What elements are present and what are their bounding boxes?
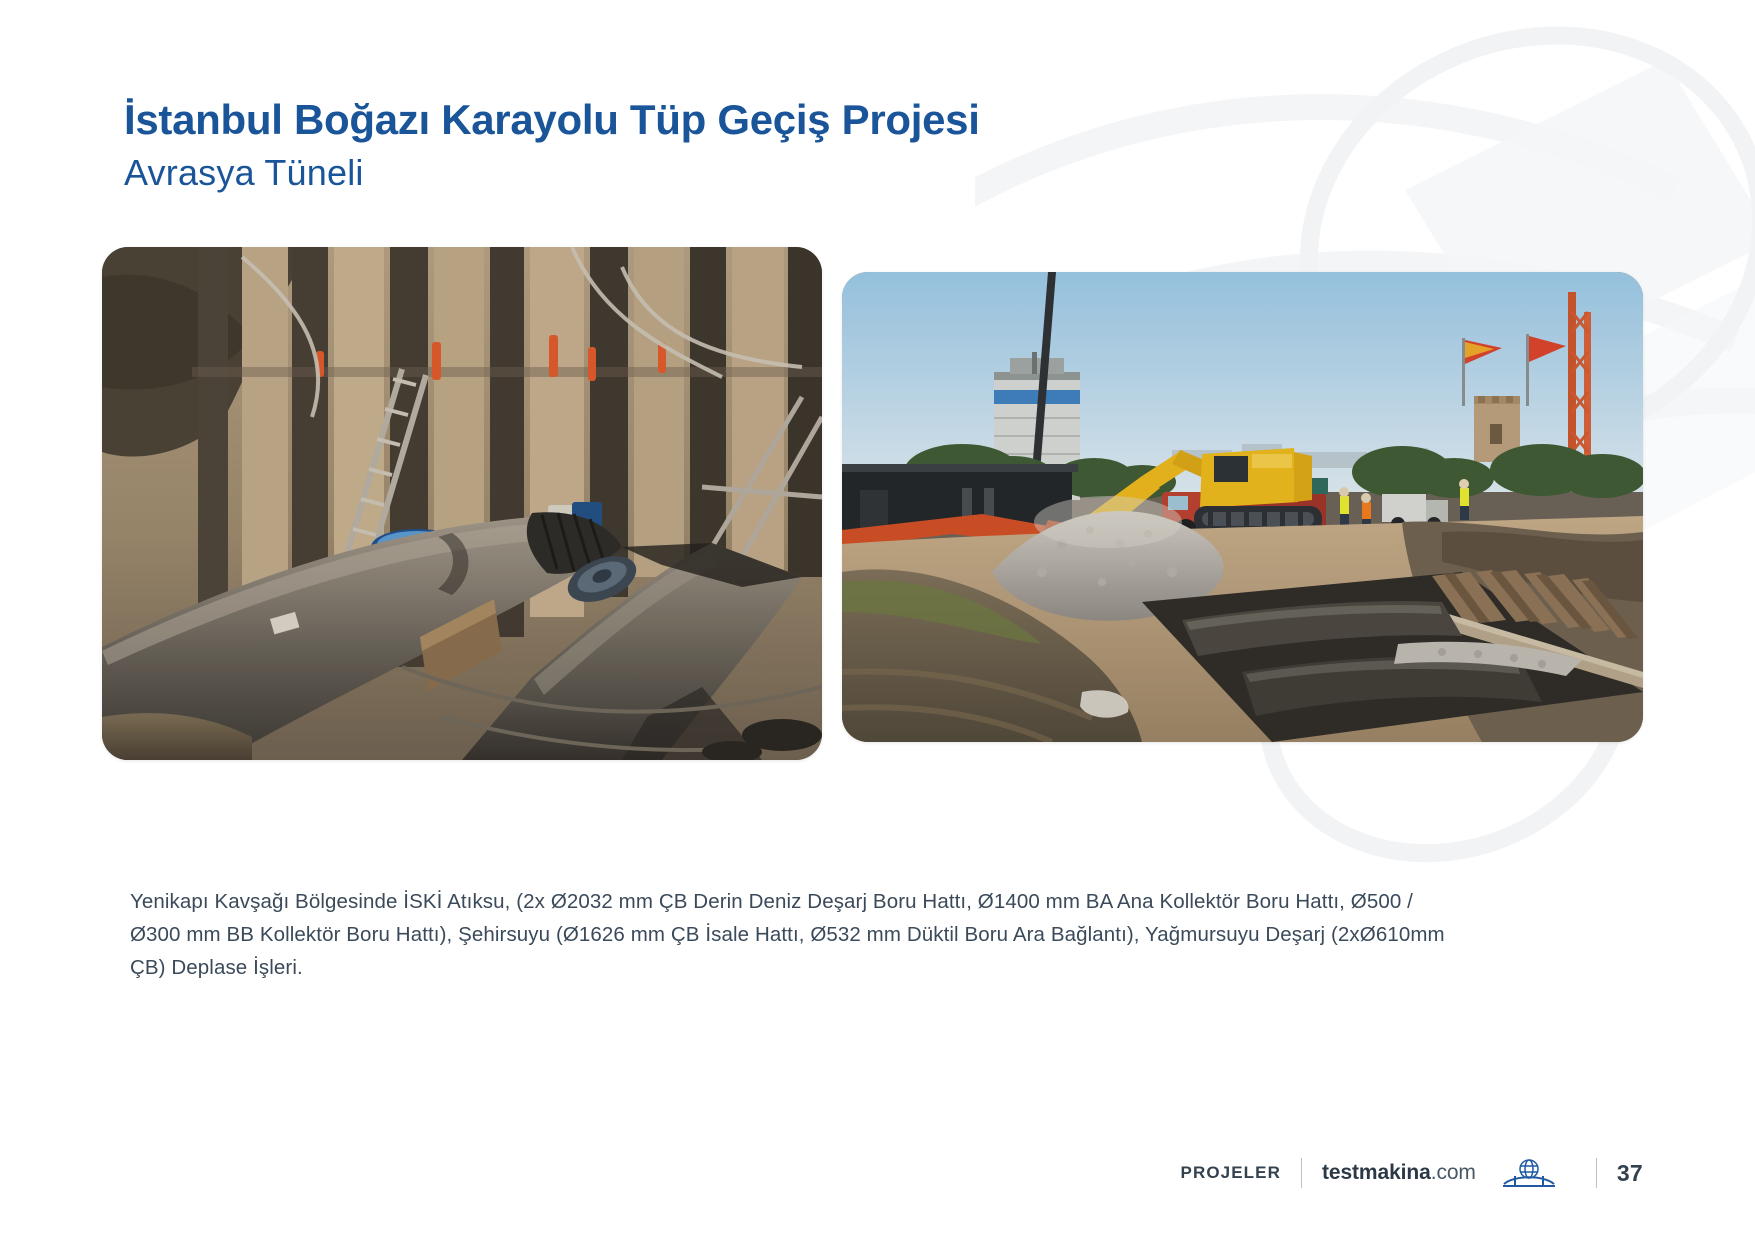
brand-tld: .com: [1431, 1161, 1476, 1184]
photo-trench-pipes: [102, 247, 822, 760]
slide-canvas: İstanbul Boğazı Karayolu Tüp Geçiş Proje…: [0, 0, 1755, 1241]
page-title: İstanbul Boğazı Karayolu Tüp Geçiş Proje…: [124, 96, 1324, 145]
slide-footer: PROJELER testmakina.com 37: [1181, 1153, 1643, 1193]
project-description: Yenikapı Kavşağı Bölgesinde İSKİ Atıksu,…: [130, 885, 1450, 984]
footer-divider-1: [1301, 1158, 1302, 1188]
page-number: 37: [1617, 1160, 1643, 1187]
brand-wordmark: testmakina.com: [1322, 1161, 1476, 1185]
brand-name: testmakina: [1322, 1161, 1431, 1184]
page-subtitle: Avrasya Tüneli: [124, 151, 1324, 194]
slide-header: İstanbul Boğazı Karayolu Tüp Geçiş Proje…: [124, 96, 1324, 194]
globe-bridge-logo-icon: [1500, 1156, 1558, 1190]
photo-site-excavator: [842, 272, 1643, 742]
footer-divider-2: [1596, 1158, 1597, 1188]
footer-section-label: PROJELER: [1181, 1163, 1281, 1183]
